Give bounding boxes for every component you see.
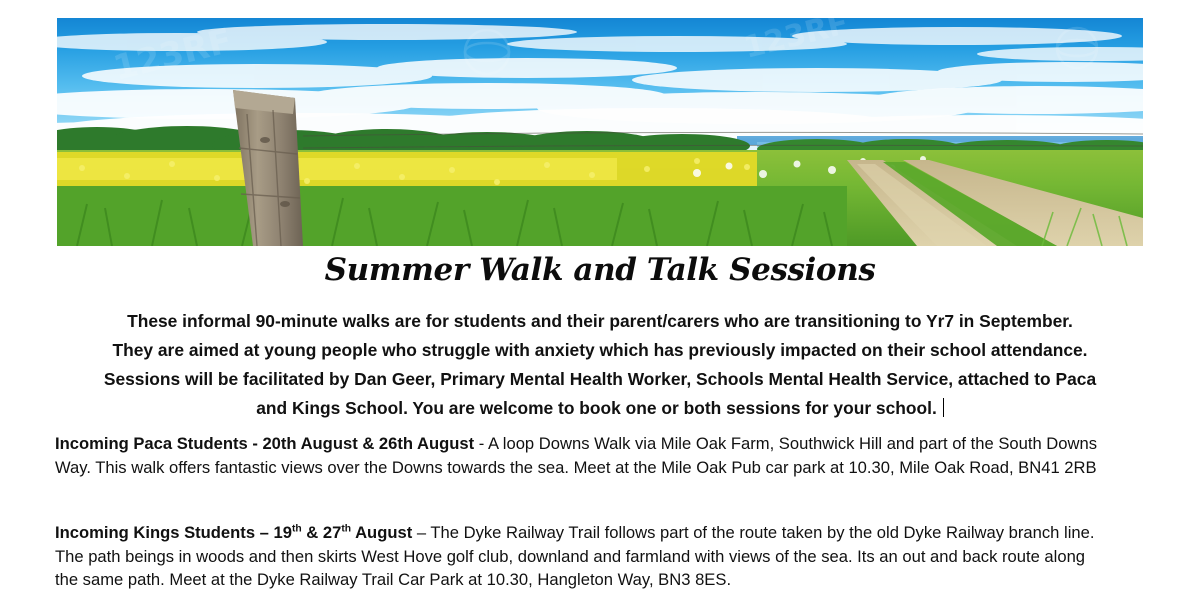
- kings-students-heading: Incoming Kings Students – 19th & 27th Au…: [55, 523, 417, 542]
- text-cursor: [943, 398, 944, 417]
- banner-image: 123RF 123RF: [57, 18, 1143, 246]
- intro-line-2: They are aimed at young people who strug…: [55, 336, 1145, 365]
- paca-students-heading: Incoming Paca Students - 20th August & 2…: [55, 434, 474, 453]
- kings-heading-sup-2: th: [341, 523, 351, 534]
- paca-students-paragraph: Incoming Paca Students - 20th August & 2…: [55, 432, 1111, 479]
- intro-paragraph: These informal 90-minute walks are for s…: [55, 307, 1145, 423]
- intro-line-3: Sessions will be facilitated by Dan Geer…: [55, 365, 1145, 394]
- kings-heading-post: August: [351, 523, 417, 542]
- intro-line-4: and Kings School. You are welcome to boo…: [55, 394, 1145, 423]
- intro-line-4-text: and Kings School. You are welcome to boo…: [256, 398, 937, 418]
- document-page: 123RF 123RF Summer Walk and Talk Session…: [0, 0, 1200, 605]
- kings-students-paragraph: Incoming Kings Students – 19th & 27th Au…: [55, 521, 1111, 592]
- page-title: Summer Walk and Talk Sessions: [0, 252, 1200, 288]
- kings-heading-pre: Incoming Kings Students – 19: [55, 523, 292, 542]
- banner-illustration: 123RF 123RF: [57, 18, 1143, 246]
- kings-separator: –: [417, 523, 431, 542]
- paca-separator: -: [474, 434, 488, 453]
- kings-heading-sup-1: th: [292, 523, 302, 534]
- kings-heading-mid: & 27: [302, 523, 342, 542]
- intro-line-1: These informal 90-minute walks are for s…: [55, 307, 1145, 336]
